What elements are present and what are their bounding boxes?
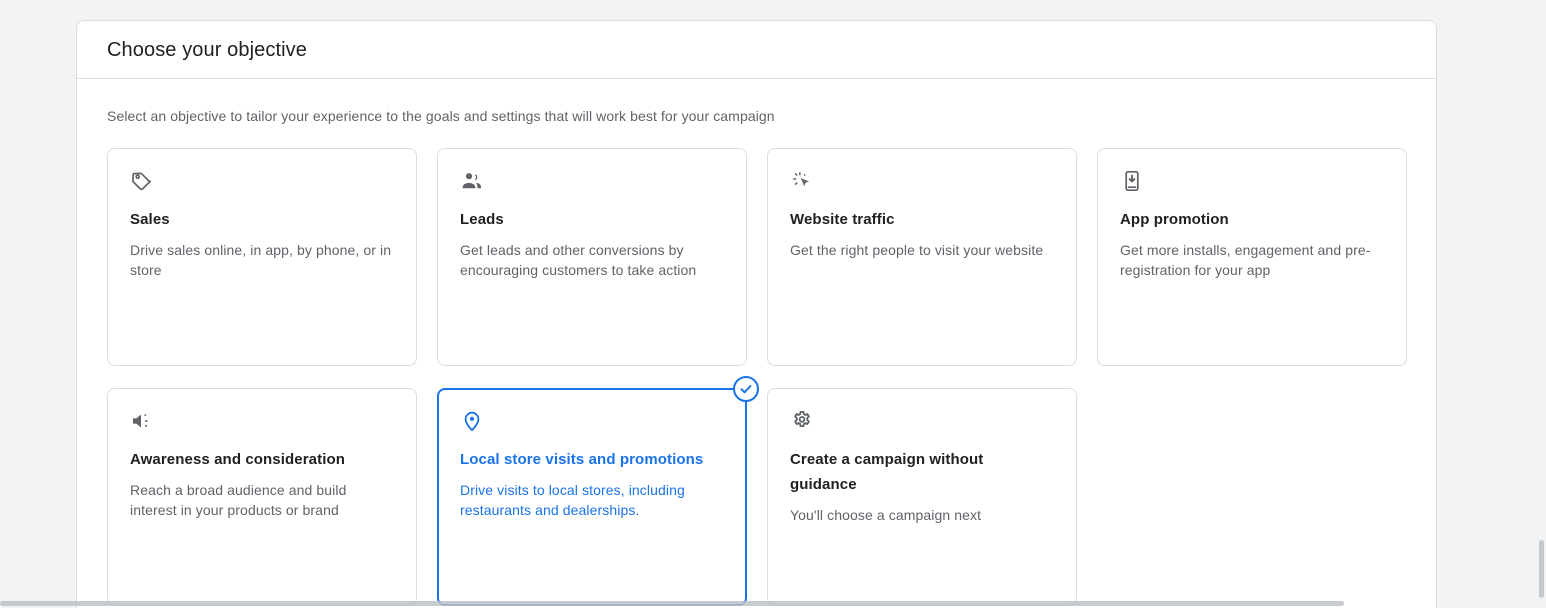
speaker-megaphone-icon bbox=[130, 409, 154, 433]
objective-card-sales[interactable]: SalesDrive sales online, in app, by phon… bbox=[107, 148, 417, 366]
objective-card-title: Awareness and consideration bbox=[130, 447, 394, 472]
check-circle-icon bbox=[733, 376, 759, 402]
objective-card-description: Get the right people to visit your websi… bbox=[790, 240, 1054, 260]
objective-card-app-promotion[interactable]: App promotionGet more installs, engageme… bbox=[1097, 148, 1407, 366]
objective-card-grid: SalesDrive sales online, in app, by phon… bbox=[107, 148, 1406, 606]
phone-download-icon bbox=[1120, 169, 1144, 193]
panel-subtitle: Select an objective to tailor your exper… bbox=[107, 106, 1406, 126]
objective-card-description: Get more installs, engagement and pre-re… bbox=[1120, 240, 1384, 280]
objective-card-title: Leads bbox=[460, 207, 724, 232]
vertical-scrollbar-thumb[interactable] bbox=[1539, 540, 1544, 598]
gear-icon bbox=[790, 409, 814, 433]
ad-click-cursor-icon bbox=[790, 169, 814, 193]
panel-header: Choose your objective bbox=[77, 21, 1436, 79]
page-title: Choose your objective bbox=[107, 37, 307, 63]
location-pin-icon bbox=[460, 409, 484, 433]
objective-card-title: App promotion bbox=[1120, 207, 1384, 232]
objective-card-title: Sales bbox=[130, 207, 394, 232]
objective-card-description: Drive sales online, in app, by phone, or… bbox=[130, 240, 394, 280]
objective-card-title: Local store visits and promotions bbox=[460, 447, 724, 472]
objective-card-leads[interactable]: LeadsGet leads and other conversions by … bbox=[437, 148, 747, 366]
people-group-icon bbox=[460, 169, 484, 193]
objective-card-description: Drive visits to local stores, including … bbox=[460, 480, 724, 520]
objective-card-title: Website traffic bbox=[790, 207, 1054, 232]
objective-card-description: Get leads and other conversions by encou… bbox=[460, 240, 724, 280]
objective-card-create-a-campaign-without-guidance[interactable]: Create a campaign without guidanceYou'll… bbox=[767, 388, 1077, 606]
objective-card-awareness-and-consideration[interactable]: Awareness and considerationReach a broad… bbox=[107, 388, 417, 606]
objective-card-description: You'll choose a campaign next bbox=[790, 505, 1054, 525]
objective-card-title: Create a campaign without guidance bbox=[790, 447, 1054, 497]
objective-card-description: Reach a broad audience and build interes… bbox=[130, 480, 394, 520]
choose-objective-panel: Choose your objective Select an objectiv… bbox=[76, 20, 1437, 608]
objective-card-website-traffic[interactable]: Website trafficGet the right people to v… bbox=[767, 148, 1077, 366]
tag-icon bbox=[130, 169, 154, 193]
horizontal-scrollbar[interactable] bbox=[0, 600, 1546, 608]
panel-body: Select an objective to tailor your exper… bbox=[77, 79, 1436, 606]
objective-card-local-store-visits-and-promotions[interactable]: Local store visits and promotionsDrive v… bbox=[437, 388, 747, 606]
horizontal-scrollbar-thumb[interactable] bbox=[0, 601, 1344, 606]
